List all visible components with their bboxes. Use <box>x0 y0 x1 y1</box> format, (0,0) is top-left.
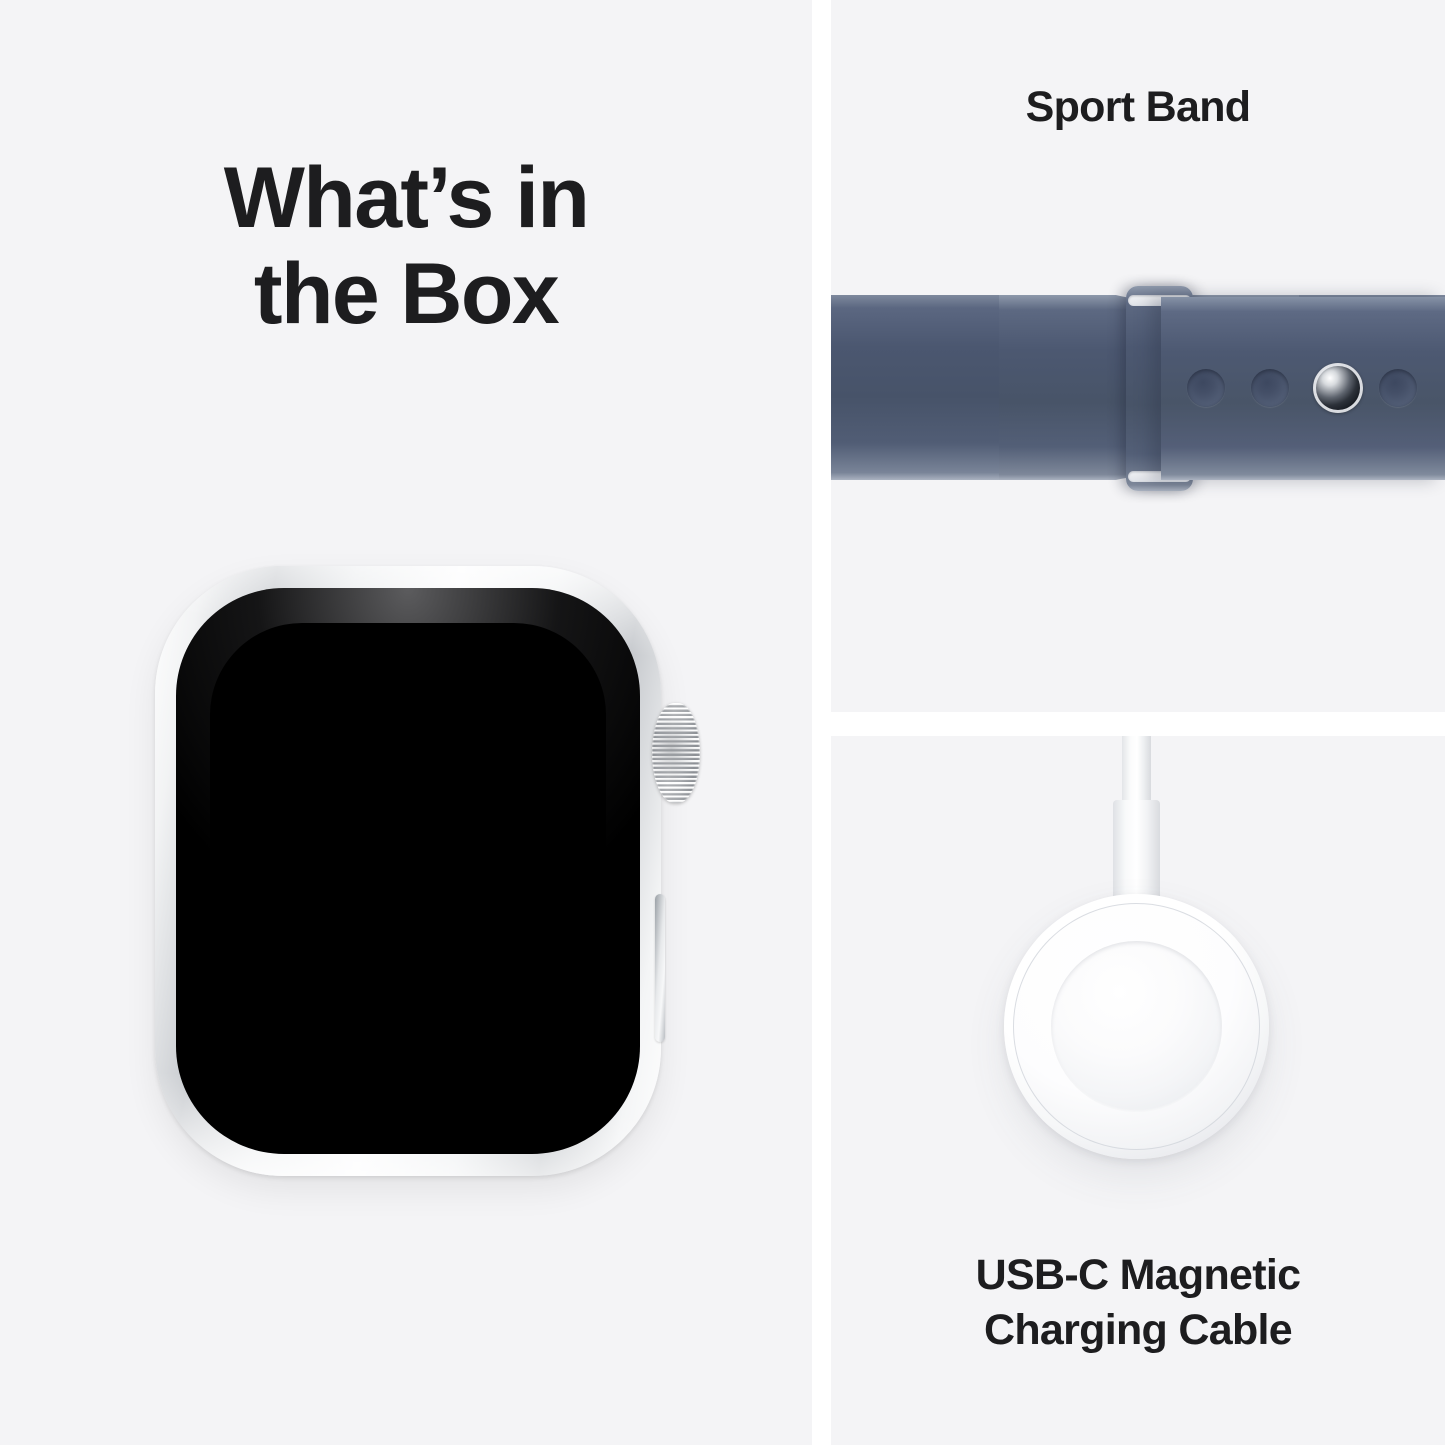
magnetic-charging-puck <box>1004 894 1269 1159</box>
band-pin-icon <box>1313 363 1363 413</box>
whats-in-the-box-graphic: What’s in the Box <box>0 0 1445 1445</box>
charging-cable-caption: USB-C Magnetic Charging Cable <box>831 1248 1445 1358</box>
page-title: What’s in the Box <box>0 150 812 343</box>
digital-crown-icon <box>652 703 700 803</box>
sport-band-title: Sport Band <box>831 83 1445 132</box>
charging-puck-rim <box>1013 903 1260 1150</box>
left-panel: What’s in the Box <box>0 0 812 1445</box>
band-over-strap <box>1161 297 1445 480</box>
charging-cable-strain-relief <box>1113 800 1160 904</box>
band-hole-2 <box>1251 369 1289 407</box>
charging-cable-cord <box>1122 736 1151 804</box>
watch-display <box>210 623 606 1119</box>
apple-watch-product-image <box>155 566 661 1176</box>
watch-bezel <box>176 588 640 1154</box>
side-button-icon <box>655 894 665 1042</box>
band-hole-1 <box>1187 369 1225 407</box>
page-title-block: What’s in the Box <box>0 150 812 343</box>
band-hole-4 <box>1379 369 1417 407</box>
charging-puck-inner-disc <box>1051 941 1222 1112</box>
